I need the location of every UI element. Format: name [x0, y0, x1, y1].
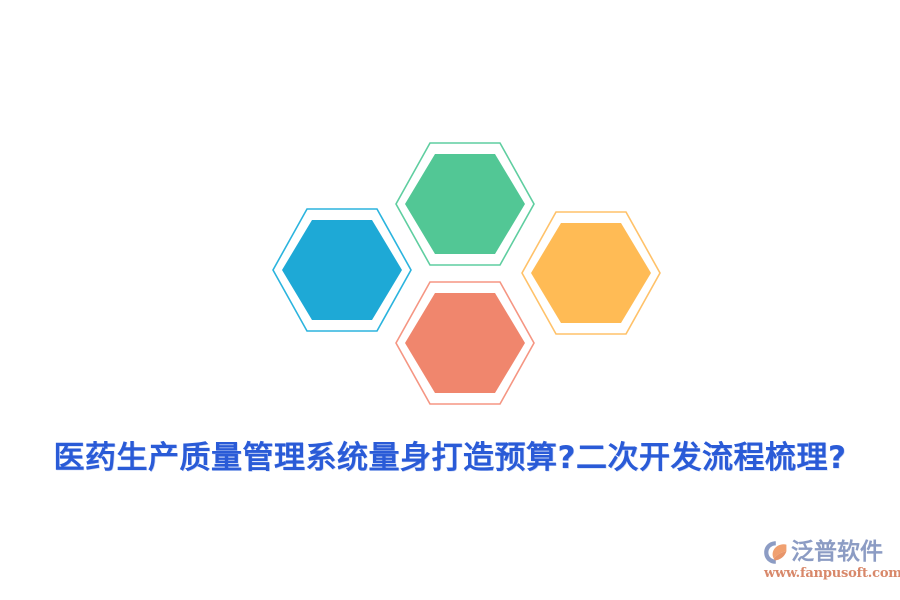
hexagon-salmon — [395, 281, 535, 405]
hexagon-green — [395, 142, 535, 266]
hexagon-salmon-fill — [405, 293, 525, 393]
brand-row: 泛普软件 — [762, 538, 892, 566]
poster-canvas: 医药生产质量管理系统量身打造预算?二次开发流程梳理? 泛普软件 www.fanp… — [0, 0, 900, 600]
page-title: 医药生产质量管理系统量身打造预算?二次开发流程梳理? — [54, 436, 847, 480]
hexagon-blue-fill — [282, 220, 402, 320]
hexagon-green-fill — [405, 154, 525, 254]
brand-name: 泛普软件 — [791, 539, 883, 565]
headline-container: 医药生产质量管理系统量身打造预算?二次开发流程梳理? — [0, 436, 900, 480]
hexagon-blue — [272, 208, 412, 332]
fanpu-logo-icon — [762, 539, 789, 566]
hexagon-orange — [521, 211, 661, 335]
hexagon-orange-fill — [531, 223, 651, 323]
brand-url: www.fanpusoft.com — [762, 566, 892, 582]
hexagon-cluster — [270, 138, 670, 413]
brand-watermark: 泛普软件 www.fanpusoft.com — [762, 538, 892, 586]
